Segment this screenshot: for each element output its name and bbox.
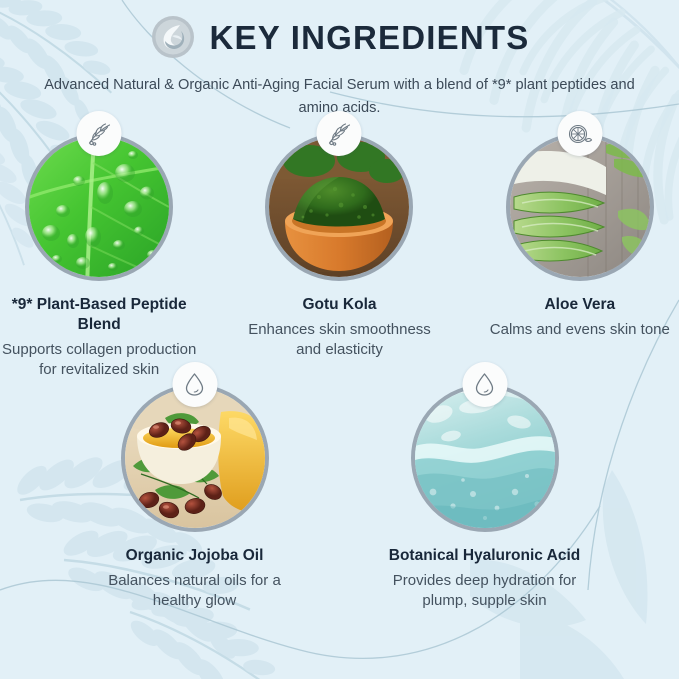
thumbnail-wrapper xyxy=(121,384,269,532)
ingredient-title: Aloe Vera xyxy=(544,295,615,315)
ingredient-card-hyaluronic-acid: Botanical Hyaluronic Acid Provides deep … xyxy=(379,384,591,611)
herb-sprig-icon xyxy=(317,111,362,156)
ingredient-title: Gotu Kola xyxy=(302,295,376,315)
ingredient-description: Supports collagen production for revital… xyxy=(0,340,198,380)
ingredient-card-jojoba-oil: Organic Jojoba Oil Balances natural oils… xyxy=(89,384,301,611)
ingredient-description: Balances natural oils for a healthy glow xyxy=(89,571,301,611)
water-droplet-icon xyxy=(172,362,217,407)
ingredient-title: Botanical Hyaluronic Acid xyxy=(389,546,581,566)
thumbnail-wrapper xyxy=(265,133,413,281)
ingredient-card-aloe-vera: Aloe Vera Calms and evens skin tone xyxy=(481,133,679,340)
herb-sprig-icon xyxy=(77,111,122,156)
header: KEY INGREDIENTS Advanced Natural & Organ… xyxy=(0,0,679,119)
thumbnail-wrapper xyxy=(506,133,654,281)
ingredients-row-top: *9* Plant-Based Peptide Blend Supports c… xyxy=(0,133,679,380)
ingredient-card-peptide-blend: *9* Plant-Based Peptide Blend Supports c… xyxy=(0,133,198,380)
citrus-slice-icon xyxy=(557,111,602,156)
ingredient-description: Enhances skin smoothness and elasticity xyxy=(240,320,438,360)
leaf-droplet-emblem-icon xyxy=(150,14,196,60)
water-droplet-icon xyxy=(462,362,507,407)
thumbnail-wrapper xyxy=(25,133,173,281)
ingredient-title: *9* Plant-Based Peptide Blend xyxy=(0,295,198,335)
thumbnail-wrapper xyxy=(411,384,559,532)
ingredients-row-bottom: Organic Jojoba Oil Balances natural oils… xyxy=(0,384,679,611)
ingredient-title: Organic Jojoba Oil xyxy=(126,546,264,566)
page-title: KEY INGREDIENTS xyxy=(210,21,530,54)
ingredient-card-gotu-kola: Gotu Kola Enhances skin smoothness and e… xyxy=(240,133,438,360)
ingredient-description: Calms and evens skin tone xyxy=(490,320,670,340)
ingredient-description: Provides deep hydration for plump, suppl… xyxy=(379,571,591,611)
title-row: KEY INGREDIENTS xyxy=(0,14,679,60)
